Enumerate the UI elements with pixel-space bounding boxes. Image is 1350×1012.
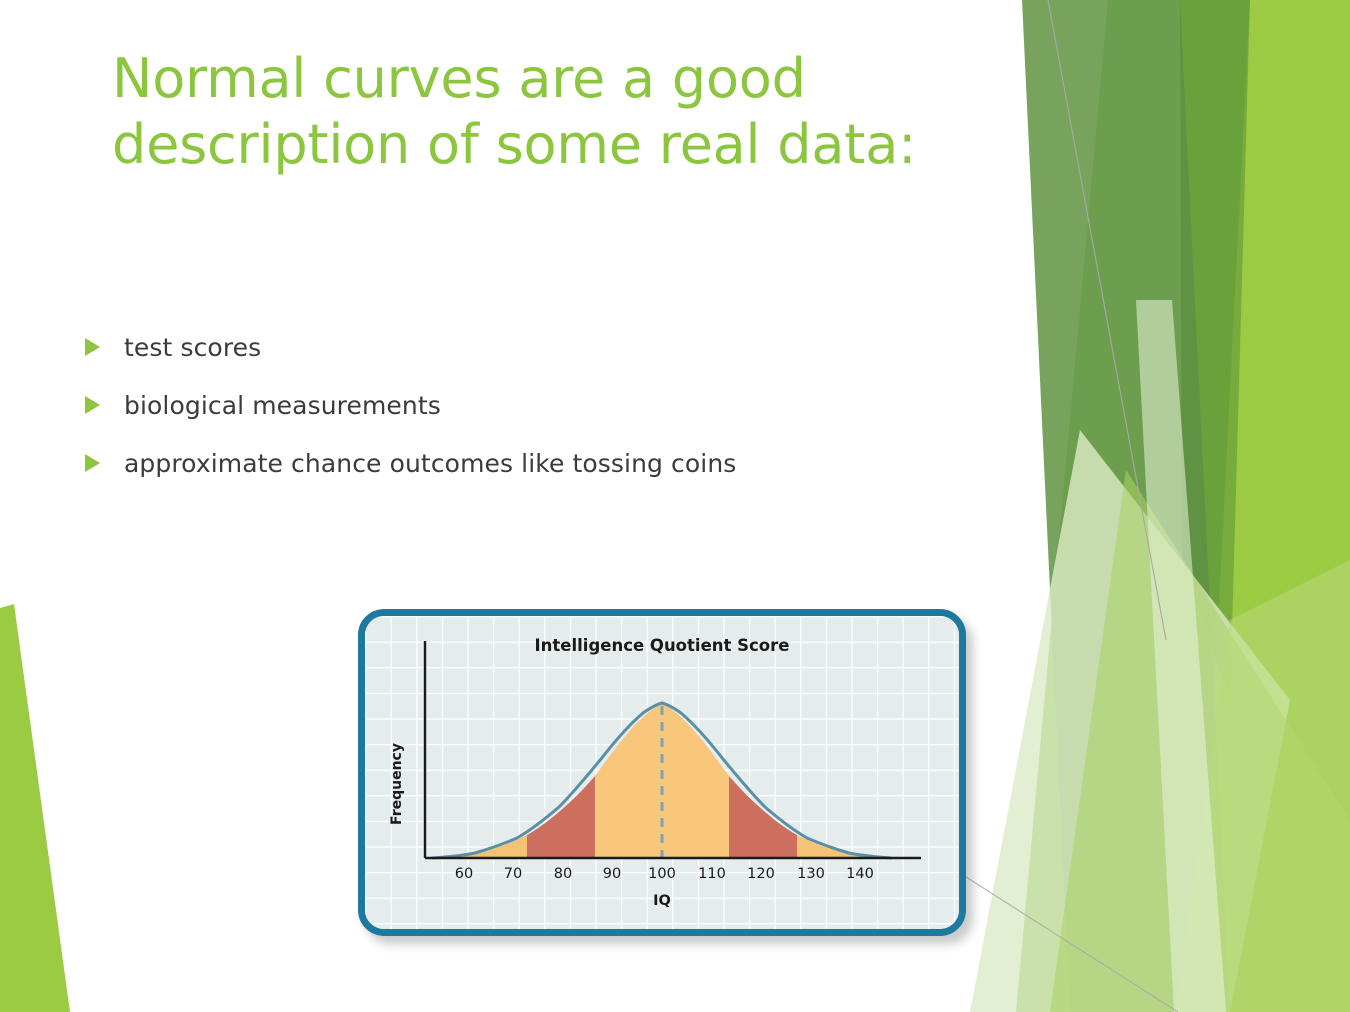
triangle-right-icon [78, 337, 124, 357]
x-tick-label: 130 [797, 866, 825, 882]
slide-canvas: Normal curves are a good description of … [0, 0, 1350, 1012]
x-tick-label: 80 [554, 866, 572, 882]
chart-svg: Intelligence Quotient Score Frequency [365, 616, 959, 929]
chart-x-axis-label: IQ [653, 893, 671, 909]
page-title: Normal curves are a good description of … [112, 46, 952, 178]
list-item-label: biological measurements [124, 391, 441, 420]
x-tick-label: 110 [698, 866, 726, 882]
list-item-label: approximate chance outcomes like tossing… [124, 449, 736, 478]
x-tick-label: 140 [846, 866, 874, 882]
bullet-list: test scores biological measurements appr… [78, 318, 928, 492]
triangle-right-icon [78, 453, 124, 473]
chart-title: Intelligence Quotient Score [535, 636, 790, 655]
iq-normal-curve-chart: Intelligence Quotient Score Frequency [358, 609, 966, 936]
x-tick-label: 70 [504, 866, 522, 882]
list-item: test scores [78, 318, 928, 376]
x-tick-label: 60 [455, 866, 473, 882]
x-tick-label: 90 [603, 866, 621, 882]
list-item-label: test scores [124, 333, 261, 362]
x-tick-label: 120 [747, 866, 775, 882]
triangle-right-icon [78, 395, 124, 415]
list-item: biological measurements [78, 376, 928, 434]
title-block: Normal curves are a good description of … [112, 46, 952, 178]
x-tick-label: 100 [648, 866, 676, 882]
chart-y-axis-label: Frequency [389, 743, 405, 825]
right-green-angles-decoration [930, 0, 1350, 1012]
list-item: approximate chance outcomes like tossing… [78, 434, 928, 492]
